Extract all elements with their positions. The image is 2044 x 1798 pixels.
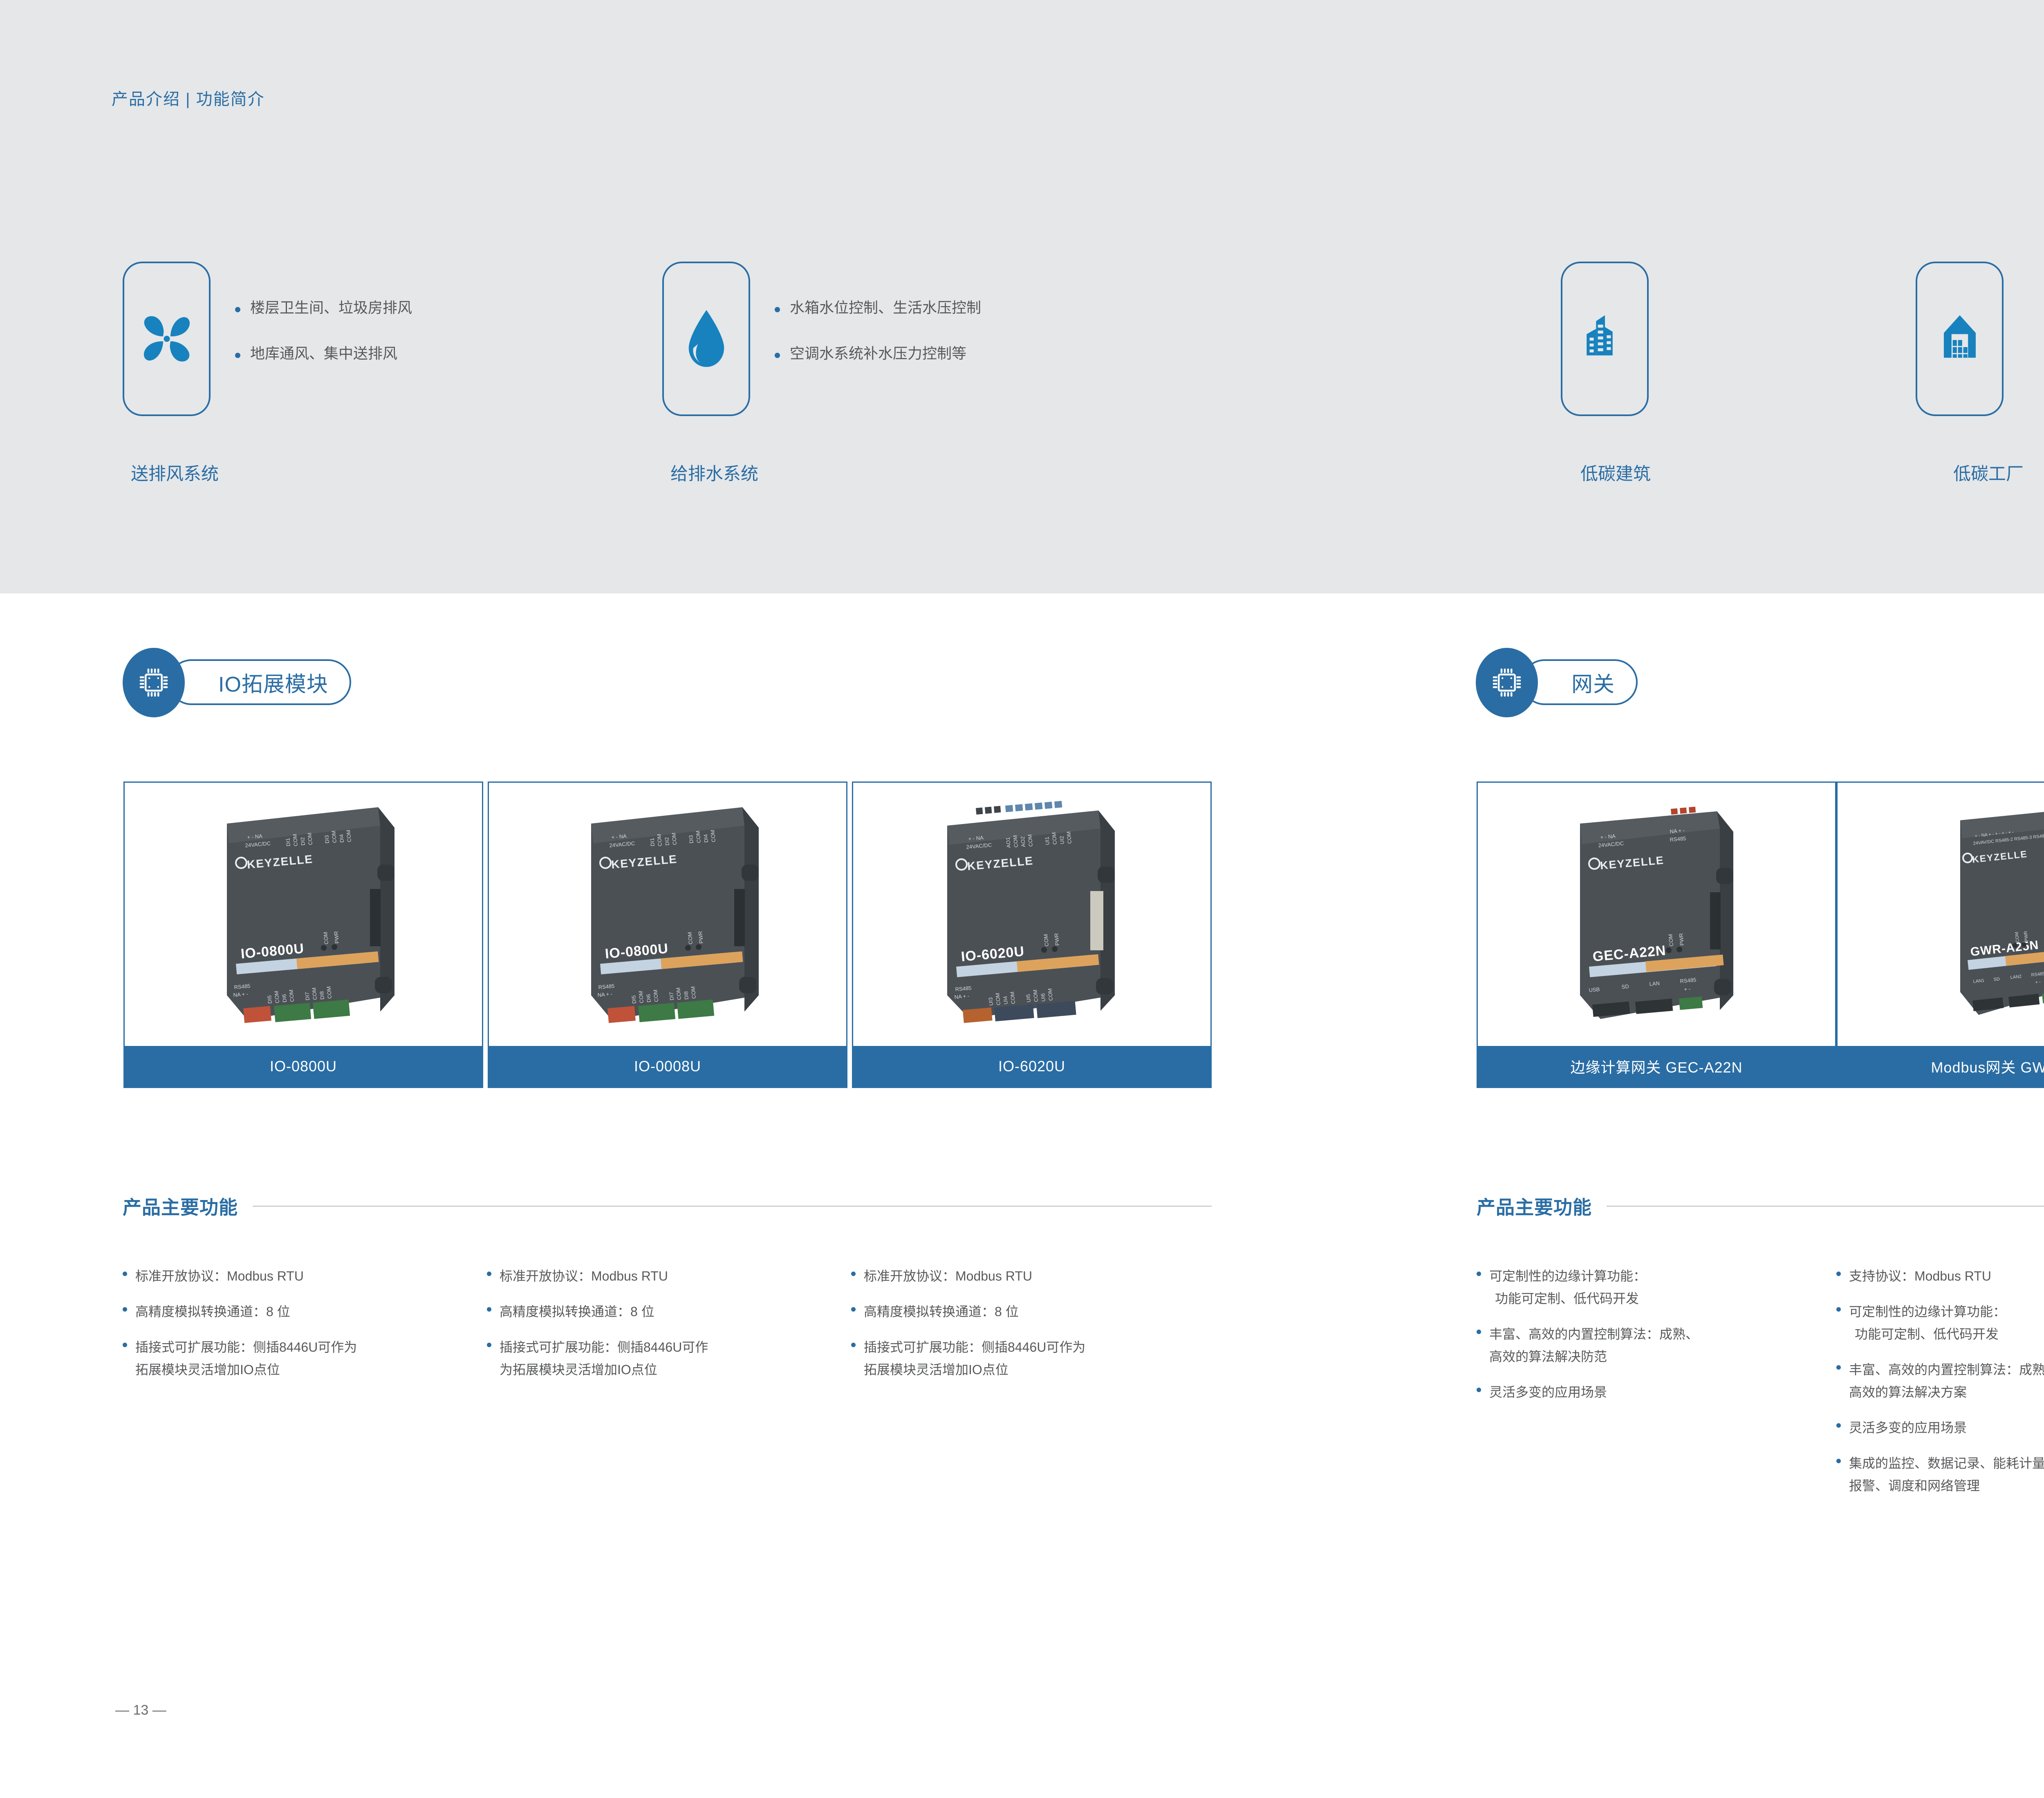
fan-icon [136, 308, 197, 369]
product-photo: IO-0800U KEYZELLE + - NA 24VAC/DC DI1 CO… [489, 783, 846, 1046]
svg-text:AO1: AO1 [1005, 837, 1012, 848]
chip-icon [135, 664, 172, 701]
scenario-bullet: 水箱水位控制、生活水压控制 [775, 300, 981, 315]
feature-line: 报警、调度和网络管理 [1849, 1475, 2044, 1497]
svg-text:PWR: PWR [1053, 933, 1060, 946]
svg-text:UI4: UI4 [1002, 996, 1009, 1005]
svg-text:DI2: DI2 [663, 837, 670, 846]
bullet-dot [487, 1307, 491, 1312]
svg-text:COM: COM [311, 987, 318, 1001]
product-photo: GEC-A22N KEYZELLE + - NA 24VAC/DC NA + -… [1478, 783, 1835, 1046]
feature-line: 丰富、高效的内置控制算法：成熟、 [1849, 1359, 2044, 1381]
bullet-dot [851, 1272, 856, 1276]
factory-icon [1933, 308, 1986, 369]
feature-item: 插接式可扩展功能：侧插8446U可作 为拓展模块灵活增加IO点位 [487, 1336, 843, 1381]
feature-item: 高精度模拟转换通道：8 位 [851, 1301, 1211, 1323]
feature-text: 可定制性的边缘计算功能： 功能可定制、低代码开发 [1849, 1301, 2006, 1346]
target-title-factory: 低碳工厂 [1953, 460, 2024, 485]
scenario-water: 水箱水位控制、生活水压控制 空调水系统补水压力控制等 [662, 262, 981, 416]
device-io-6020u-icon: IO-6020U KEYZELLE + - NA 24VAC/DC AO1 CO… [853, 783, 1210, 1046]
svg-text:DI7: DI7 [668, 992, 675, 1001]
bullet-dot [123, 1307, 127, 1312]
svg-text:DI8: DI8 [683, 991, 690, 1000]
svg-text:COM: COM [994, 993, 1002, 1006]
svg-text:COM: COM [675, 987, 682, 1001]
svg-text:COM: COM [1047, 988, 1054, 1001]
feature-line: 高精度模拟转换通道：8 位 [864, 1301, 1019, 1323]
bullet-dot [1477, 1272, 1481, 1276]
feature-text: 丰富、高效的内置控制算法：成熟、 高效的算法解决防范 [1489, 1323, 1699, 1368]
feature-item: 标准开放协议：Modbus RTU [851, 1265, 1211, 1287]
product-card[interactable]: IO-0800U KEYZELLE + - NA 24VAC/DC DI1 CO… [123, 781, 483, 1088]
feature-line: 丰富、高效的内置控制算法：成熟、 [1489, 1323, 1699, 1346]
bullet-dot [1836, 1365, 1841, 1370]
product-card[interactable]: IO-0800U KEYZELLE + - NA 24VAC/DC DI1 CO… [488, 781, 847, 1088]
scenario-ventilation-bullets: 楼层卫生间、垃圾房排风 地库通风、集中送排风 [235, 300, 412, 392]
svg-text:DI7: DI7 [304, 992, 311, 1001]
svg-text:+ -: + - [1684, 986, 1691, 992]
bullet-dot [1477, 1330, 1481, 1334]
svg-text:COM: COM [1667, 934, 1674, 947]
scenario-title-ventilation: 送排风系统 [131, 460, 219, 485]
svg-text:DI4: DI4 [338, 834, 345, 843]
section-title-io: IO拓展模块 [218, 667, 328, 698]
svg-text:COM: COM [1012, 835, 1019, 848]
feature-item: 丰富、高效的内置控制算法：成熟、 高效的算法解决防范 [1477, 1323, 1828, 1368]
svg-text:COM: COM [1026, 834, 1034, 847]
office-building-icon [1578, 308, 1632, 369]
product-caption: 边缘计算网关 GEC-A22N [1478, 1046, 1835, 1087]
device-gwr-a25n-icon: GWR-A25N KEYZELLE + - NA + - + - + - + -… [1838, 783, 2044, 1046]
feature-text: 高精度模拟转换通道：8 位 [135, 1301, 290, 1323]
factory-icon-frame [1916, 262, 2004, 416]
svg-text:DI3: DI3 [323, 835, 330, 844]
svg-text:UI6: UI6 [1040, 993, 1047, 1002]
bullet-dot [775, 353, 780, 358]
product-card[interactable]: GEC-A22N KEYZELLE + - NA 24VAC/DC NA + -… [1477, 781, 1836, 1088]
svg-text:UI1: UI1 [1044, 837, 1051, 845]
fan-icon-frame [123, 262, 211, 416]
feature-item: 灵活多变的应用场景 [1477, 1381, 1828, 1404]
features-column: 标准开放协议：Modbus RTU 高精度模拟转换通道：8 位 插接式可扩展功能… [487, 1265, 843, 1394]
svg-text:NA + -: NA + - [597, 991, 613, 998]
svg-text:COM: COM [273, 991, 280, 1004]
bullet-text: 楼层卫生间、垃圾房排风 [250, 300, 412, 315]
feature-text: 标准开放协议：Modbus RTU [500, 1265, 668, 1287]
svg-text:COM: COM [695, 831, 702, 844]
scenario-ventilation: 楼层卫生间、垃圾房排风 地库通风、集中送排风 [123, 262, 412, 416]
chip-icon-badge-io [123, 648, 185, 717]
svg-text:SD: SD [1993, 976, 2000, 982]
feature-line: 功能可定制、低代码开发 [1849, 1323, 2006, 1346]
feature-text: 插接式可扩展功能：侧插8446U可作为 拓展模块灵活增加IO点位 [864, 1336, 1085, 1381]
svg-text:COM: COM [686, 932, 694, 945]
feature-item: 高精度模拟转换通道：8 位 [123, 1301, 478, 1323]
svg-text:DI1: DI1 [285, 838, 291, 846]
svg-text:DI2: DI2 [299, 837, 306, 846]
feature-text: 灵活多变的应用场景 [1849, 1417, 1967, 1439]
office-building-icon-frame [1561, 262, 1649, 416]
section-pill-io: IO拓展模块 [168, 659, 351, 705]
features-rule [1607, 1206, 2044, 1207]
svg-text:NA + -: NA + - [233, 991, 249, 998]
feature-line: 标准开放协议：Modbus RTU [135, 1265, 304, 1287]
svg-text:COM: COM [1065, 831, 1073, 844]
feature-line: 高效的算法解决防范 [1489, 1346, 1699, 1368]
features-rule [253, 1206, 1212, 1207]
product-caption: IO-6020U [853, 1046, 1210, 1087]
svg-text:DI8: DI8 [318, 991, 325, 1000]
svg-text:+ -: + - [2035, 980, 2041, 985]
features-column: 标准开放协议：Modbus RTU 高精度模拟转换通道：8 位 插接式可扩展功能… [123, 1265, 478, 1394]
svg-text:SD: SD [1621, 983, 1629, 990]
water-drop-icon [680, 306, 733, 372]
bullet-dot [1836, 1307, 1841, 1312]
device-io-0800u-icon: IO-0800U KEYZELLE + - NA 24VAC/DC DI1 CO… [125, 783, 482, 1046]
feature-text: 集成的监控、数据记录、能耗计量、 报警、调度和网络管理 [1849, 1452, 2044, 1497]
product-photo: IO-0800U KEYZELLE + - NA 24VAC/DC DI1 CO… [125, 783, 482, 1046]
svg-text:PWR: PWR [1678, 933, 1685, 946]
water-drop-icon-frame [662, 262, 750, 416]
section-pill-gateway: 网关 [1522, 659, 1638, 705]
feature-item: 标准开放协议：Modbus RTU [487, 1265, 843, 1287]
svg-text:DI4: DI4 [702, 834, 709, 843]
feature-line: 可定制性的边缘计算功能： [1849, 1301, 2006, 1323]
chip-icon [1488, 664, 1525, 701]
bullet-dot [1836, 1272, 1841, 1276]
device-gec-a22n-icon: GEC-A22N KEYZELLE + - NA 24VAC/DC NA + -… [1478, 783, 1835, 1046]
bullet-dot [851, 1343, 856, 1347]
target-low-carbon-factory [1916, 262, 2004, 416]
feature-line: 标准开放协议：Modbus RTU [500, 1265, 668, 1287]
device-io-0008u-icon: IO-0800U KEYZELLE + - NA 24VAC/DC DI1 CO… [489, 783, 846, 1046]
feature-text: 支持协议：Modbus RTU [1849, 1265, 1991, 1287]
product-caption: Modbus网关 GWR-A25N [1838, 1046, 2044, 1087]
feature-item: 标准开放协议：Modbus RTU [123, 1265, 478, 1287]
svg-text:COM: COM [690, 986, 697, 999]
target-low-carbon-building [1561, 262, 1649, 416]
svg-text:COM: COM [325, 986, 333, 999]
bullet-dot [1477, 1388, 1481, 1392]
bullet-text: 地库通风、集中送排风 [250, 346, 397, 361]
bullet-dot [1836, 1459, 1841, 1463]
feature-line: 为拓展模块灵活增加IO点位 [500, 1359, 708, 1381]
page-number-left: — 13 — [115, 1702, 166, 1718]
svg-text:UI2: UI2 [1058, 836, 1065, 844]
svg-text:AO2: AO2 [1020, 836, 1026, 847]
scenario-bullet: 楼层卫生间、垃圾房排风 [235, 300, 412, 315]
scenario-bullet: 地库通风、集中送排风 [235, 346, 412, 361]
feature-line: 高效的算法解决方案 [1849, 1381, 2044, 1404]
chip-icon-badge-gateway [1476, 648, 1538, 717]
feature-item: 集成的监控、数据记录、能耗计量、 报警、调度和网络管理 [1836, 1452, 2044, 1497]
bullet-dot [235, 353, 240, 358]
feature-item: 灵活多变的应用场景 [1836, 1417, 2044, 1439]
feature-line: 灵活多变的应用场景 [1489, 1381, 1607, 1404]
feature-text: 高精度模拟转换通道：8 位 [864, 1301, 1019, 1323]
product-caption: IO-0800U [125, 1046, 482, 1087]
feature-item: 可定制性的边缘计算功能： 功能可定制、低代码开发 [1836, 1301, 2044, 1346]
feature-item: 插接式可扩展功能：侧插8446U可作为 拓展模块灵活增加IO点位 [123, 1336, 478, 1381]
scenario-water-bullets: 水箱水位控制、生活水压控制 空调水系统补水压力控制等 [775, 300, 981, 392]
svg-text:COM: COM [656, 834, 663, 847]
features-column: 标准开放协议：Modbus RTU 高精度模拟转换通道：8 位 插接式可扩展功能… [851, 1265, 1211, 1394]
bullet-text: 水箱水位控制、生活水压控制 [790, 300, 981, 315]
svg-text:COM: COM [709, 830, 717, 843]
features-title-gateway: 产品主要功能 [1477, 1193, 1592, 1220]
svg-text:UI5: UI5 [1025, 994, 1032, 1003]
svg-text:NA + -: NA + - [1670, 827, 1685, 835]
svg-text:COM: COM [345, 830, 352, 843]
svg-text:DI6: DI6 [645, 994, 652, 1003]
feature-item: 高精度模拟转换通道：8 位 [487, 1301, 843, 1323]
svg-text:COM: COM [1009, 992, 1016, 1005]
feature-text: 灵活多变的应用场景 [1489, 1381, 1607, 1404]
feature-item: 支持协议：Modbus RTU [1836, 1265, 2044, 1287]
feature-line: 高精度模拟转换通道：8 位 [500, 1301, 654, 1323]
feature-line: 标准开放协议：Modbus RTU [864, 1265, 1032, 1287]
bullet-dot [487, 1272, 491, 1276]
target-title-building: 低碳建筑 [1580, 460, 1651, 485]
bullet-dot [123, 1272, 127, 1276]
features-title-row-io: 产品主要功能 [123, 1193, 1212, 1220]
svg-text:COM: COM [291, 834, 299, 847]
feature-text: 标准开放协议：Modbus RTU [864, 1265, 1032, 1287]
feature-line: 集成的监控、数据记录、能耗计量、 [1849, 1452, 2044, 1475]
scenario-bullet: 空调水系统补水压力控制等 [775, 346, 981, 361]
bullet-dot [235, 307, 240, 312]
svg-text:COM: COM [637, 991, 645, 1004]
feature-line: 插接式可扩展功能：侧插8446U可作为 [135, 1336, 357, 1359]
features-title-io: 产品主要功能 [123, 1193, 238, 1220]
svg-text:COM: COM [288, 990, 295, 1003]
product-photo: IO-6020U KEYZELLE + - NA 24VAC/DC AO1 CO… [853, 783, 1210, 1046]
svg-text:DI1: DI1 [649, 838, 656, 846]
feature-text: 插接式可扩展功能：侧插8446U可作 为拓展模块灵活增加IO点位 [500, 1336, 708, 1381]
features-column: 可定制性的边缘计算功能： 功能可定制、低代码开发 丰富、高效的内置控制算法：成熟… [1477, 1265, 1828, 1417]
svg-text:UI3: UI3 [987, 997, 994, 1006]
svg-text:NA + -: NA + - [954, 993, 970, 1000]
features-title-row-gateway: 产品主要功能 [1477, 1193, 2044, 1220]
svg-text:LAN: LAN [1649, 980, 1660, 987]
feature-line: 插接式可扩展功能：侧插8446U可作为 [864, 1336, 1085, 1359]
feature-line: 插接式可扩展功能：侧插8446U可作 [500, 1336, 708, 1359]
svg-text:COM: COM [1032, 990, 1039, 1003]
bullet-dot [123, 1343, 127, 1347]
feature-line: 灵活多变的应用场景 [1849, 1417, 1967, 1439]
feature-line: 高精度模拟转换通道：8 位 [135, 1301, 290, 1323]
page-header-left: 产品介绍 | 功能简介 [112, 86, 265, 110]
feature-line: 可定制性的边缘计算功能： [1489, 1265, 1646, 1287]
svg-text:COM: COM [652, 990, 659, 1003]
bullet-dot [775, 307, 780, 312]
svg-text:COM: COM [330, 831, 338, 844]
product-caption: IO-0008U [489, 1046, 846, 1087]
scenario-title-water: 给排水系统 [670, 460, 758, 485]
svg-text:PWR: PWR [697, 931, 704, 944]
svg-text:DI5: DI5 [266, 995, 273, 1004]
svg-text:DI3: DI3 [688, 835, 695, 844]
product-photo: GWR-A25N KEYZELLE + - NA + - + - + - + -… [1838, 783, 2044, 1046]
feature-line: 拓展模块灵活增加IO点位 [864, 1359, 1085, 1381]
svg-text:COM: COM [306, 833, 314, 846]
feature-text: 插接式可扩展功能：侧插8446U可作为 拓展模块灵活增加IO点位 [135, 1336, 357, 1381]
feature-text: 可定制性的边缘计算功能： 功能可定制、低代码开发 [1489, 1265, 1646, 1310]
svg-text:COM: COM [1051, 832, 1058, 845]
features-column: 支持协议：Modbus RTU 可定制性的边缘计算功能： 功能可定制、低代码开发… [1836, 1265, 2044, 1510]
svg-text:DI5: DI5 [630, 995, 637, 1004]
feature-line: 支持协议：Modbus RTU [1849, 1265, 1991, 1287]
feature-text: 标准开放协议：Modbus RTU [135, 1265, 304, 1287]
feature-text: 丰富、高效的内置控制算法：成熟、 高效的算法解决方案 [1849, 1359, 2044, 1404]
feature-item: 可定制性的边缘计算功能： 功能可定制、低代码开发 [1477, 1265, 1828, 1310]
svg-text:COM: COM [670, 833, 678, 846]
svg-text:USB: USB [1589, 986, 1600, 993]
svg-text:DI6: DI6 [281, 994, 288, 1003]
feature-text: 高精度模拟转换通道：8 位 [500, 1301, 654, 1323]
product-card[interactable]: IO-6020U KEYZELLE + - NA 24VAC/DC AO1 CO… [852, 781, 1212, 1088]
svg-text:COM: COM [322, 932, 329, 945]
bullet-dot [487, 1343, 491, 1347]
product-card[interactable]: GWR-A25N KEYZELLE + - NA + - + - + - + -… [1836, 781, 2044, 1088]
svg-text:PWR: PWR [333, 931, 340, 944]
feature-item: 插接式可扩展功能：侧插8446U可作为 拓展模块灵活增加IO点位 [851, 1336, 1211, 1381]
svg-text:COM: COM [1042, 934, 1050, 947]
section-title-gateway: 网关 [1571, 667, 1615, 698]
feature-item: 丰富、高效的内置控制算法：成熟、 高效的算法解决方案 [1836, 1359, 2044, 1404]
bullet-dot [1836, 1423, 1841, 1428]
bullet-text: 空调水系统补水压力控制等 [790, 346, 966, 361]
feature-line: 功能可定制、低代码开发 [1489, 1287, 1646, 1310]
bullet-dot [851, 1307, 856, 1312]
feature-line: 拓展模块灵活增加IO点位 [135, 1359, 357, 1381]
